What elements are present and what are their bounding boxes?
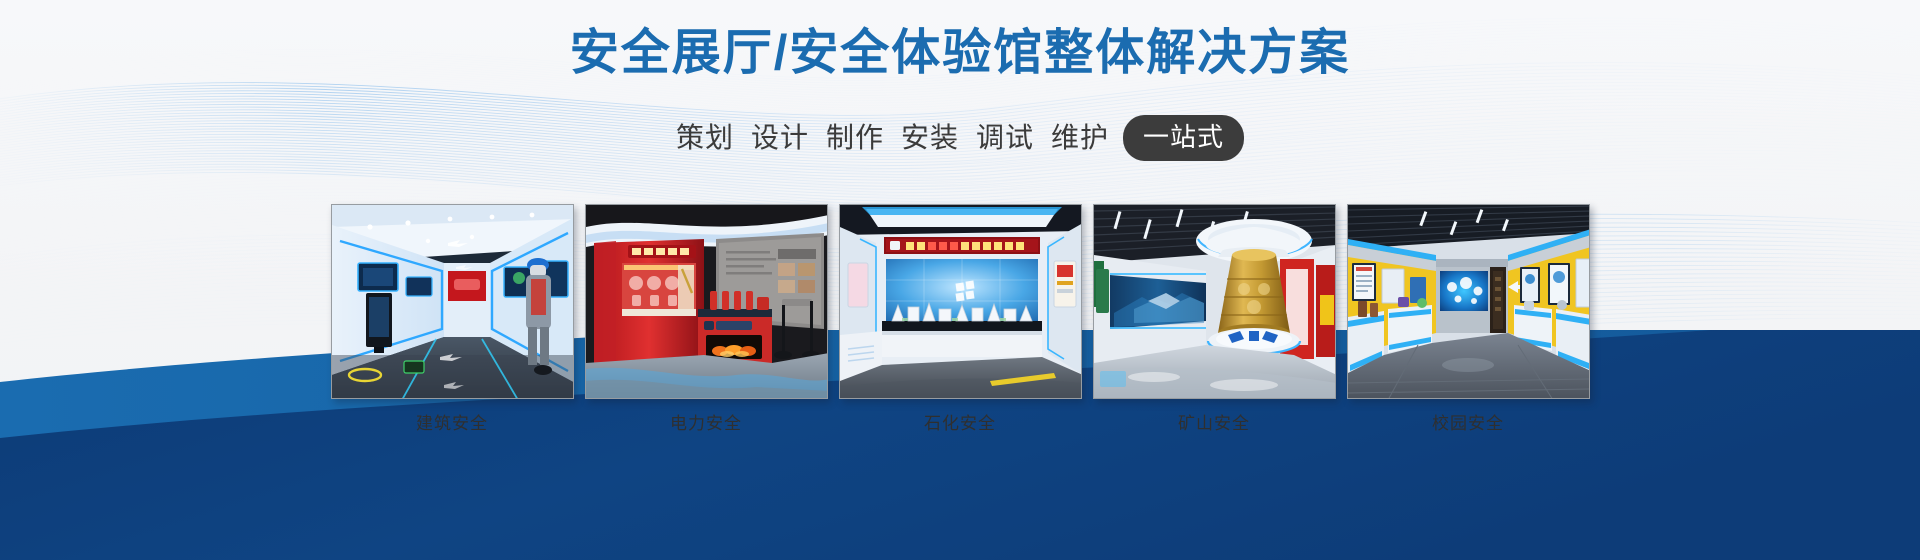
solution-card-list: 建筑安全	[0, 204, 1920, 436]
mine-safety-image[interactable]	[1093, 204, 1336, 399]
subtitle-word-maintenance: 维护	[1051, 122, 1109, 153]
solution-card[interactable]: 电力安全	[585, 204, 828, 436]
banner-root: 安全展厅/安全体验馆整体解决方案 策划设计制作安装调试维护 一站式	[0, 0, 1920, 560]
subtitle-word-installation: 安装	[901, 122, 959, 153]
one-stop-badge: 一站式	[1123, 115, 1244, 161]
solution-card[interactable]: 建筑安全	[331, 204, 574, 436]
subtitle-word-production: 制作	[826, 122, 884, 153]
solution-card[interactable]: 矿山安全	[1093, 204, 1336, 436]
subtitle-word-planning: 策划	[676, 122, 734, 153]
subtitle-text: 策划设计制作安装调试维护	[676, 118, 1123, 158]
solution-card[interactable]: 校园安全	[1347, 204, 1590, 436]
banner-content: 安全展厅/安全体验馆整体解决方案 策划设计制作安装调试维护 一站式	[0, 0, 1920, 560]
solution-card[interactable]: 石化安全	[839, 204, 1082, 436]
card-caption: 建筑安全	[416, 412, 488, 436]
subtitle-word-debugging: 调试	[976, 122, 1034, 153]
subtitle-word-design: 设计	[751, 122, 809, 153]
electric-power-safety-image[interactable]	[585, 204, 828, 399]
card-caption: 电力安全	[670, 412, 742, 436]
construction-safety-image[interactable]	[331, 204, 574, 399]
subtitle-row: 策划设计制作安装调试维护 一站式	[0, 115, 1920, 161]
page-title: 安全展厅/安全体验馆整体解决方案	[0, 22, 1920, 84]
card-caption: 石化安全	[924, 412, 996, 436]
petrochemical-safety-image[interactable]	[839, 204, 1082, 399]
card-caption: 矿山安全	[1178, 412, 1250, 436]
card-caption: 校园安全	[1432, 412, 1504, 436]
campus-safety-image[interactable]	[1347, 204, 1590, 399]
